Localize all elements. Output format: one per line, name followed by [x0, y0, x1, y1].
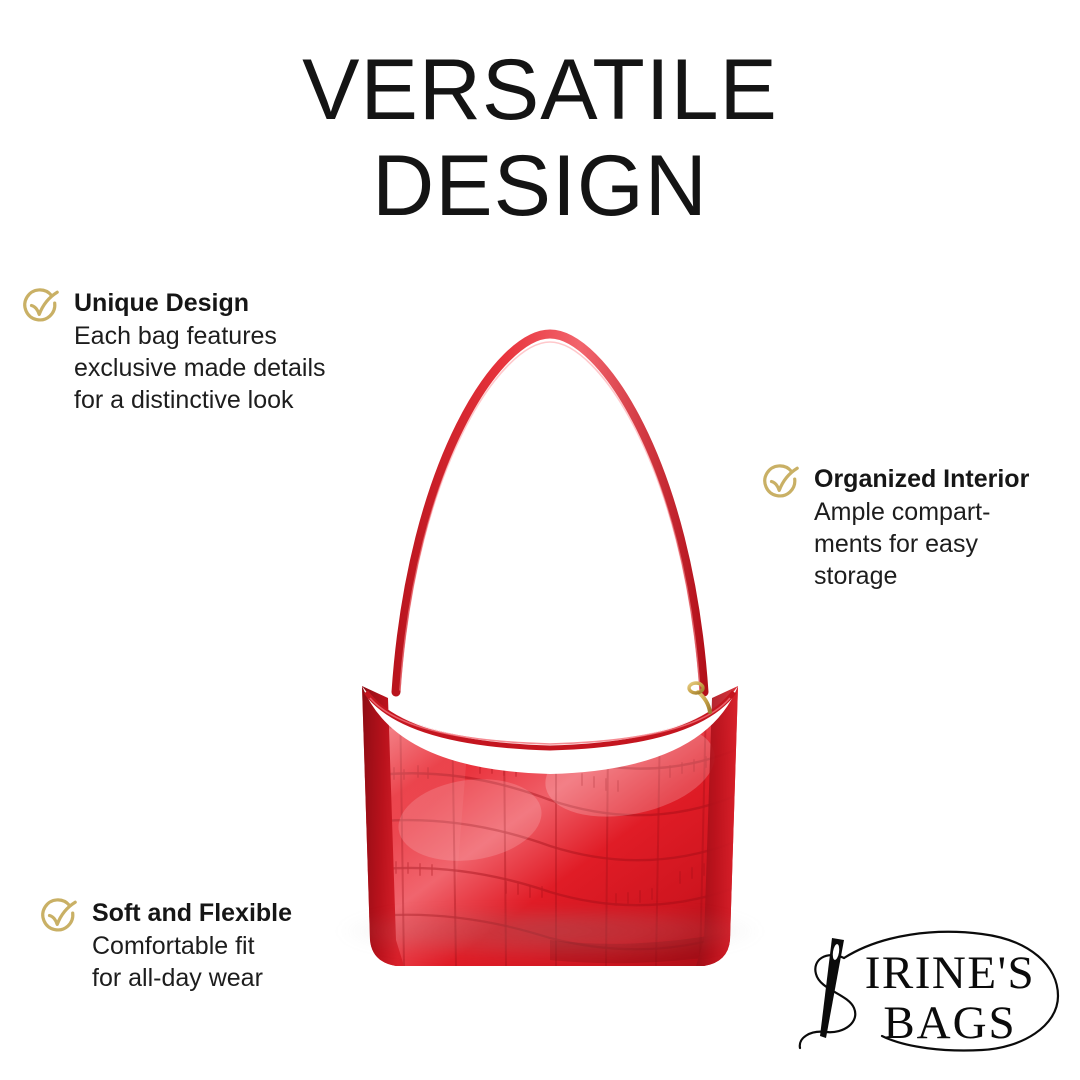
check-circle-icon	[36, 894, 80, 938]
feature-text: Organized Interior Ample compart- ments …	[814, 464, 1029, 592]
feature-body-line: for all-day wear	[92, 962, 292, 994]
feature-body: Comfortable fit for all-day wear	[92, 930, 292, 995]
logo-line-1: IRINE'S	[852, 950, 1048, 996]
product-shadow	[340, 912, 760, 960]
logo-wordmark: IRINE'S BAGS	[852, 950, 1048, 1046]
headline-line-2: DESIGN	[0, 138, 1080, 234]
feature-body-line: exclusive made details	[74, 352, 326, 384]
feature-title: Soft and Flexible	[92, 898, 292, 929]
product-image	[300, 300, 800, 1000]
feature-body-line: storage	[814, 560, 1029, 592]
feature-body-line: Comfortable fit	[92, 930, 292, 962]
feature-unique-design: Unique Design Each bag features exclusiv…	[18, 288, 326, 416]
feature-body: Each bag features exclusive made details…	[74, 320, 326, 417]
handbag-illustration	[300, 300, 800, 1000]
headline-line-1: VERSATILE	[0, 42, 1080, 138]
feature-body: Ample compart- ments for easy storage	[814, 496, 1029, 593]
bag-strap	[396, 334, 704, 692]
feature-title: Unique Design	[74, 288, 326, 319]
brand-logo: IRINE'S BAGS	[786, 922, 1066, 1062]
feature-body-line: Each bag features	[74, 320, 326, 352]
feature-text: Soft and Flexible Comfortable fit for al…	[92, 898, 292, 994]
check-circle-icon	[18, 284, 62, 328]
page-title: VERSATILE DESIGN	[0, 42, 1080, 235]
feature-body-line: Ample compart-	[814, 496, 1029, 528]
feature-title: Organized Interior	[814, 464, 1029, 495]
logo-line-2: BAGS	[852, 1000, 1048, 1046]
check-circle-icon	[758, 460, 802, 504]
feature-body-line: ments for easy	[814, 528, 1029, 560]
poster-canvas: VERSATILE DESIGN	[0, 0, 1080, 1080]
feature-soft-and-flexible: Soft and Flexible Comfortable fit for al…	[36, 898, 292, 994]
feature-body-line: for a distinctive look	[74, 384, 326, 416]
feature-organized-interior: Organized Interior Ample compart- ments …	[758, 464, 1029, 592]
feature-text: Unique Design Each bag features exclusiv…	[74, 288, 326, 416]
